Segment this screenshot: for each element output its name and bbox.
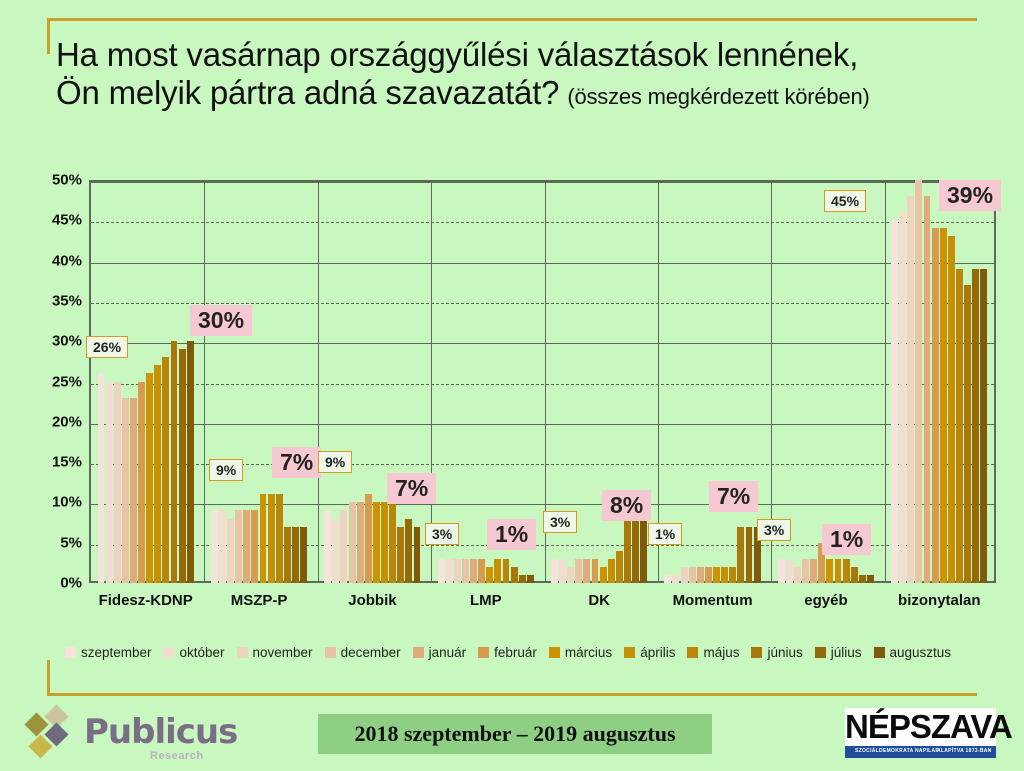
bar[interactable] [915,180,922,583]
legend-label: szeptember [81,645,152,660]
y-axis-tick-30: 30% [4,333,82,350]
legend-item-febru-r[interactable]: február [478,645,537,660]
bar[interactable] [486,567,493,583]
bar[interactable] [527,575,534,583]
bar[interactable] [494,559,501,583]
bar[interactable] [171,341,178,583]
bar[interactable] [300,527,307,583]
value-callout-bizonytalan-39: 39% [939,180,1001,211]
bar[interactable] [251,510,258,583]
bar[interactable] [365,494,372,583]
bar[interactable] [260,494,267,583]
title-subtitle: (összes megkérdezett körében) [567,84,869,109]
bar[interactable] [138,382,145,584]
bar[interactable] [729,567,736,583]
legend-swatch-icon [815,647,826,658]
bar[interactable] [381,502,388,583]
bar[interactable] [122,398,129,583]
bar-group-fidesz-kdnp [97,180,194,583]
legend-item-j-lius[interactable]: július [815,645,862,660]
bar[interactable] [146,373,153,583]
category-label-mszp-p: MSZP-P [202,592,315,609]
bar[interactable] [219,510,226,583]
title-line-2-main: Ön melyik pártra adná szavazatát? [56,74,559,111]
bar[interactable] [284,527,291,583]
value-callout-lmp-1: 1% [487,519,536,550]
category-label-dk: DK [543,592,656,609]
publicus-logo: Publicus Research [22,710,272,766]
bar[interactable] [243,510,250,583]
legend-item-augusztus[interactable]: augusztus [874,645,952,660]
bar[interactable] [583,559,590,583]
value-callout-fidesz-kdnp-26: 26% [86,336,128,358]
bar[interactable] [414,527,421,583]
bar[interactable] [843,559,850,583]
bar[interactable] [389,502,396,583]
bottom-accent-rule [47,693,977,696]
bar[interactable] [276,494,283,583]
bar[interactable] [705,567,712,583]
legend-swatch-icon [874,647,885,658]
category-label-momentum: Momentum [656,592,769,609]
legend-swatch-icon [687,647,698,658]
nepszava-logo: NÉPSZAVA SZOCIÁLDEMOKRATA NAPILAP ALAPÍT… [845,708,996,758]
bar[interactable] [503,559,510,583]
legend-item--prilis[interactable]: április [624,645,675,660]
bar[interactable] [551,559,558,583]
bar[interactable] [478,559,485,583]
legend-label: július [831,645,862,660]
page-title: Ha most vasárnap országgyűlési választás… [56,36,996,116]
value-callout-bizonytalan-45: 45% [824,190,866,212]
bar[interactable] [268,494,275,583]
bar[interactable] [737,527,744,583]
bar[interactable] [826,559,833,583]
bar[interactable] [292,527,299,583]
bar-group-egy-b [777,180,874,583]
bar[interactable] [357,502,364,583]
bar[interactable] [972,269,979,583]
bar[interactable] [462,559,469,583]
legend-item-j-nius[interactable]: június [751,645,802,660]
bar[interactable] [162,357,169,583]
value-callout-mszp-p-7: 7% [272,447,321,478]
legend-swatch-icon [478,647,489,658]
legend-item-december[interactable]: december [325,645,401,660]
legend-label: február [494,645,537,660]
legend-label: augusztus [890,645,952,660]
title-line-2: Ön melyik pártra adná szavazatát?(összes… [56,74,996,116]
legend-swatch-icon [325,647,336,658]
bar[interactable] [632,519,639,583]
legend-label: április [640,645,675,660]
bar[interactable] [624,519,631,583]
y-axis-tick-5: 5% [4,534,82,551]
date-range-text: 2018 szeptember – 2019 augusztus [354,721,675,747]
bar-group-mszp-p [210,180,307,583]
bar[interactable] [179,349,186,583]
y-axis-tick-15: 15% [4,454,82,471]
value-callout-egy-b-1: 1% [822,524,871,555]
bar[interactable] [511,567,518,583]
bar[interactable] [519,575,526,583]
legend-label: november [253,645,313,660]
bar[interactable] [721,567,728,583]
value-callout-mszp-p-9: 9% [209,459,243,481]
bar[interactable] [559,559,566,583]
bar[interactable] [640,519,647,583]
publicus-tagline: Research [150,750,204,762]
bar[interactable] [689,567,696,583]
legend-item-okt-ber[interactable]: október [163,645,224,660]
x-axis-category-labels: Fidesz-KDNPMSZP-PJobbikLMPDKMomentumegyé… [89,592,996,616]
legend-item-szeptember[interactable]: szeptember [65,645,152,660]
bar[interactable] [786,559,793,583]
date-range-banner: 2018 szeptember – 2019 augusztus [318,714,712,754]
bar[interactable] [438,559,445,583]
bar[interactable] [835,559,842,583]
top-accent-rule [47,18,977,21]
bar[interactable] [664,575,671,583]
bar[interactable] [907,196,914,583]
value-callout-fidesz-kdnp-30: 30% [190,305,252,336]
nepszava-sub-left: SZOCIÁLDEMOKRATA NAPILAP [855,748,939,754]
legend-swatch-icon [624,647,635,658]
category-label-bizonytalan: bizonytalan [883,592,996,609]
value-callout-lmp-3: 3% [425,523,459,545]
bar[interactable] [98,373,105,583]
category-label-fidesz-kdnp: Fidesz-KDNP [89,592,202,609]
bar[interactable] [956,269,963,583]
value-callout-egy-b-3: 3% [757,519,791,541]
bar[interactable] [324,510,331,583]
bar[interactable] [948,236,955,583]
y-axis-tick-45: 45% [4,212,82,229]
value-callout-dk-8: 8% [602,490,651,521]
bar[interactable] [891,220,898,583]
bar[interactable] [802,559,809,583]
bar[interactable] [794,567,801,583]
legend-item-november[interactable]: november [237,645,313,660]
bar[interactable] [470,559,477,583]
bar[interactable] [899,212,906,583]
bar[interactable] [235,510,242,583]
value-callout-jobbik-9: 9% [318,451,352,473]
bar[interactable] [778,559,785,583]
bar[interactable] [592,559,599,583]
y-axis-tick-50: 50% [4,172,82,189]
bar[interactable] [130,398,137,583]
legend-swatch-icon [65,647,76,658]
bar[interactable] [810,559,817,583]
bottom-accent-tick [47,660,50,696]
y-axis-tick-40: 40% [4,252,82,269]
top-accent-tick [47,18,50,54]
bar-group-jobbik [324,180,421,583]
legend-label: január [429,645,467,660]
bar[interactable] [964,285,971,583]
category-label-jobbik: Jobbik [316,592,429,609]
bar[interactable] [575,559,582,583]
bar[interactable] [713,567,720,583]
legend-swatch-icon [751,647,762,658]
nepszava-wordmark: NÉPSZAVA [845,708,996,746]
value-callout-momentum-7: 7% [709,481,758,512]
y-axis: 50%45%40%35%30%25%20%15%10%5%0% [0,170,82,595]
legend-label: március [565,645,612,660]
bar[interactable] [940,228,947,583]
bar[interactable] [746,527,753,583]
bar[interactable] [681,567,688,583]
publicus-wordmark: Publicus [84,712,237,752]
bar[interactable] [454,559,461,583]
bar[interactable] [187,341,194,583]
legend-label: október [179,645,224,660]
legend-item-janu-r[interactable]: január [413,645,467,660]
bar[interactable] [340,510,347,583]
bar[interactable] [211,510,218,583]
bar[interactable] [851,567,858,583]
bar[interactable] [672,575,679,583]
bar[interactable] [697,567,704,583]
bar[interactable] [600,567,607,583]
value-callout-dk-3: 3% [543,511,577,533]
legend-swatch-icon [237,647,248,658]
bar[interactable] [446,559,453,583]
bar[interactable] [859,575,866,583]
bar[interactable] [608,559,615,583]
bar[interactable] [106,382,113,584]
legend-swatch-icon [549,647,560,658]
bar[interactable] [567,567,574,583]
y-axis-tick-35: 35% [4,292,82,309]
value-callout-momentum-1: 1% [648,523,682,545]
bar[interactable] [616,551,623,583]
bar[interactable] [349,502,356,583]
bar[interactable] [867,575,874,583]
title-line-1: Ha most vasárnap országgyűlési választás… [56,36,996,74]
y-axis-tick-10: 10% [4,494,82,511]
legend-label: december [341,645,401,660]
bar[interactable] [405,519,412,583]
legend-label: június [767,645,802,660]
legend-label: május [703,645,739,660]
bar[interactable] [227,519,234,583]
legend-swatch-icon [413,647,424,658]
y-axis-tick-25: 25% [4,373,82,390]
category-label-egy-b: egyéb [769,592,882,609]
bar[interactable] [373,502,380,583]
bar[interactable] [397,527,404,583]
bar[interactable] [114,382,121,584]
footer: Publicus Research 2018 szeptember – 2019… [0,700,1024,771]
bar-group-bizonytalan [891,180,988,583]
bar[interactable] [932,228,939,583]
legend-item-m-jus[interactable]: május [687,645,739,660]
bar[interactable] [924,196,931,583]
bar[interactable] [332,519,339,583]
value-callout-jobbik-7: 7% [387,473,436,504]
bar[interactable] [980,269,987,583]
legend-swatch-icon [163,647,174,658]
y-axis-tick-0: 0% [4,575,82,592]
bar[interactable] [154,365,161,583]
nepszava-sub-right: ALAPÍTVA 1873-BAN [937,748,992,754]
y-axis-tick-20: 20% [4,413,82,430]
chart-legend: szeptemberoktóbernovemberdecemberjanuárf… [24,640,1004,664]
category-label-lmp: LMP [429,592,542,609]
legend-item-m-rcius[interactable]: március [549,645,612,660]
